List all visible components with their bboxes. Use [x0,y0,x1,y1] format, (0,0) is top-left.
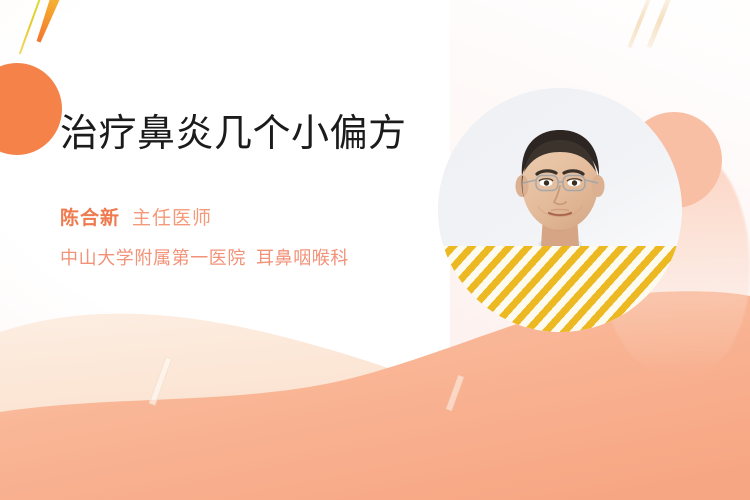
doctor-portrait [438,88,682,332]
card-text-block: 治疗鼻炎几个小偏方 陈合新主任医师 中山大学附属第一医院耳鼻咽喉科 [60,112,430,272]
page-title: 治疗鼻炎几个小偏方 [60,112,430,157]
doctor-name-row: 陈合新主任医师 [60,205,430,234]
doctor-name: 陈合新 [60,208,120,229]
doctor-title: 主任医师 [132,208,212,229]
doctor-topic-card: 治疗鼻炎几个小偏方 陈合新主任医师 中山大学附属第一医院耳鼻咽喉科 [0,0,750,500]
doctor-department: 耳鼻咽喉科 [256,248,349,268]
yellow-diagonal-stripes [438,246,682,332]
doctor-meta: 陈合新主任医师 中山大学附属第一医院耳鼻咽喉科 [60,205,430,273]
doctor-affiliation-row: 中山大学附属第一医院耳鼻咽喉科 [60,245,430,272]
doctor-hospital: 中山大学附属第一医院 [60,248,246,268]
